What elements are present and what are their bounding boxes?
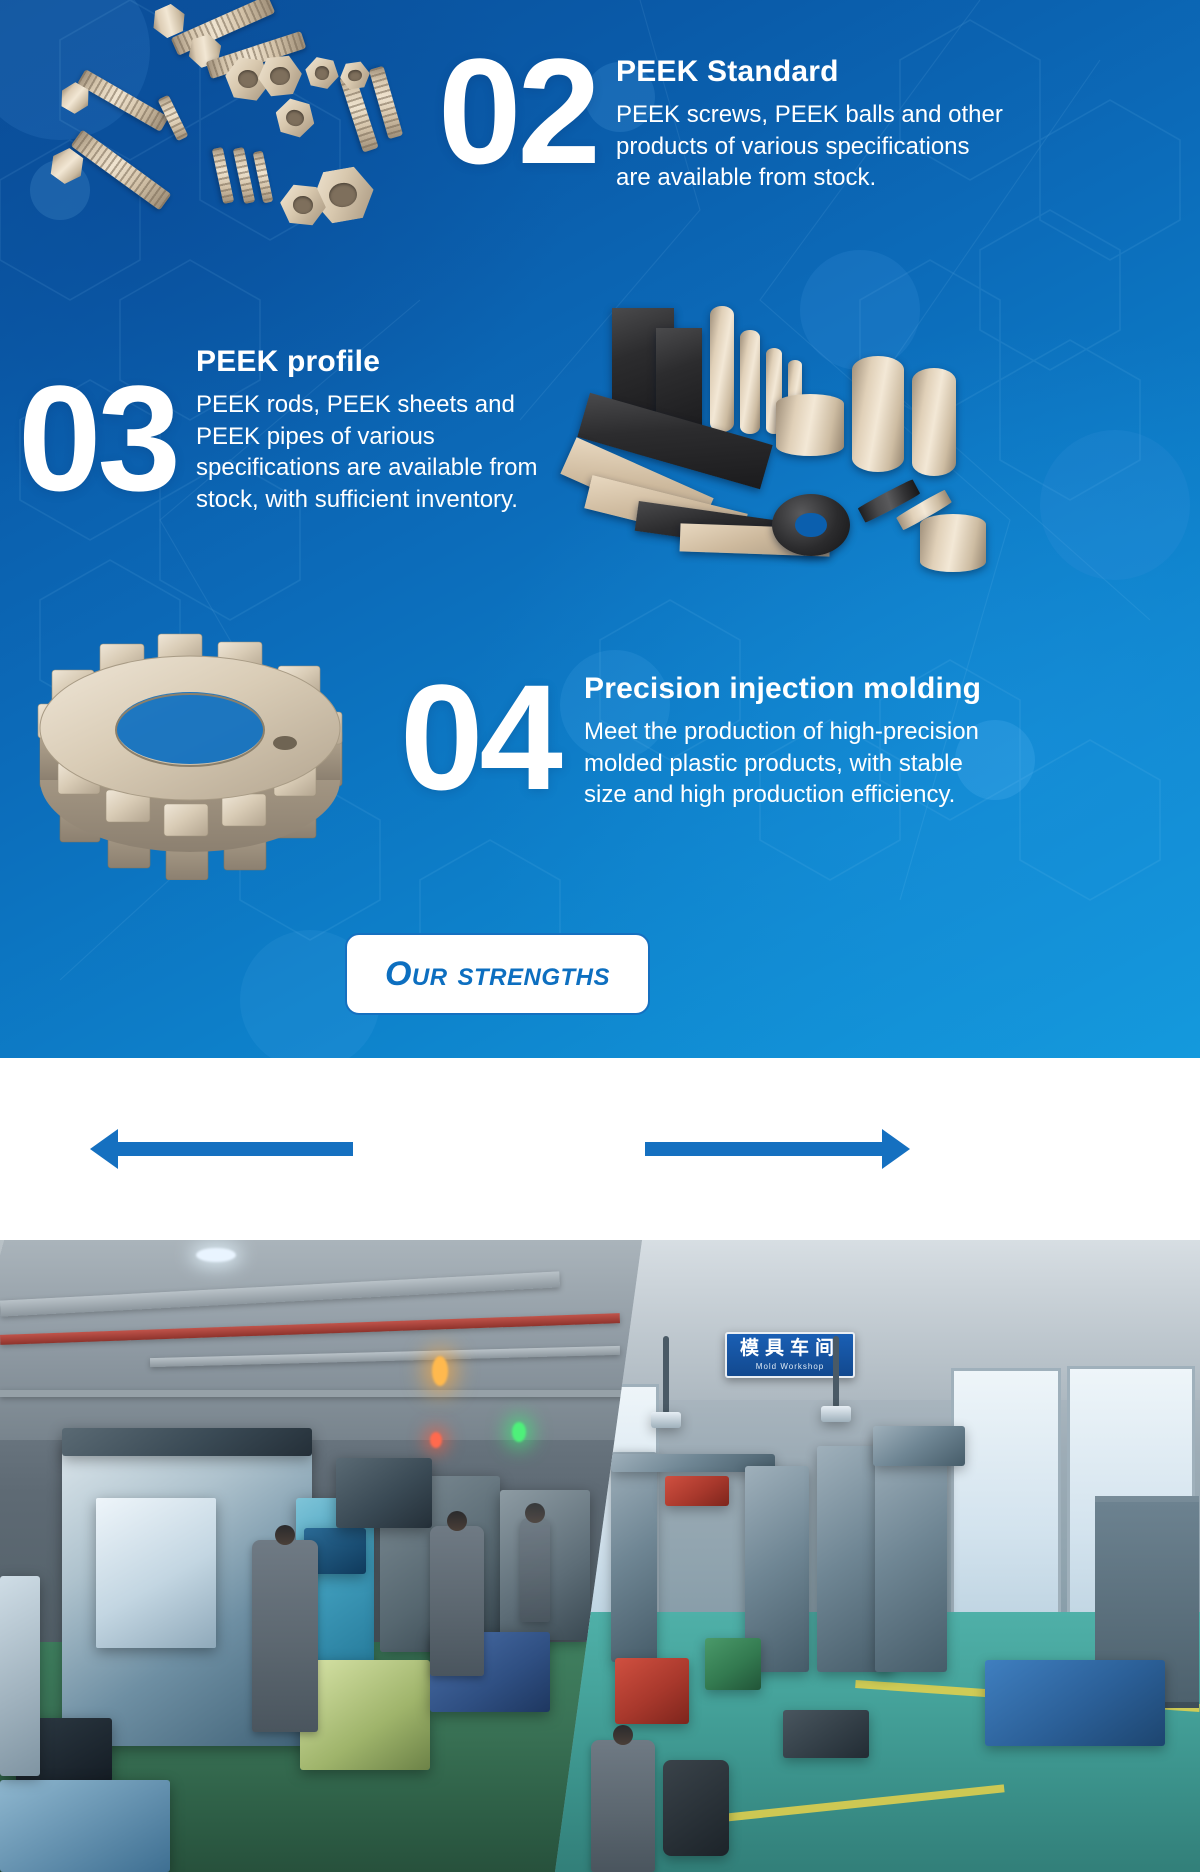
milling-machine-head	[873, 1426, 965, 1466]
worker-person	[252, 1540, 318, 1732]
feature-block-02: 02 PEEK Standard PEEK screws, PEEK balls…	[0, 0, 1200, 290]
tan-rod	[912, 368, 956, 476]
our-strengths-label: Our strengths	[385, 955, 610, 994]
black-ring	[772, 494, 850, 556]
arrow-right-icon	[882, 1129, 910, 1169]
work-bench	[985, 1660, 1165, 1746]
peek-screws-and-nuts-photo	[20, 0, 440, 270]
worker-person	[591, 1740, 655, 1872]
status-light-green	[512, 1422, 526, 1442]
tan-rod	[852, 356, 904, 472]
our-strengths-label-box: Our strengths	[345, 933, 650, 1015]
tan-rod	[776, 394, 844, 456]
our-strengths-banner	[0, 1058, 1200, 1240]
arrow-line-right	[645, 1142, 882, 1156]
feature-body: PEEK screws, PEEK balls and other produc…	[616, 99, 1006, 194]
pendant-lamp	[663, 1336, 669, 1414]
bolt-shaft	[77, 69, 169, 132]
hex-nut	[302, 55, 341, 91]
peek-molded-gear-ring-photo	[30, 630, 350, 880]
peek-rods-sheets-pipes-photo	[540, 298, 1000, 598]
radial-drill	[611, 1452, 657, 1662]
machine-unit	[705, 1638, 761, 1690]
arrow-line-left	[118, 1142, 353, 1156]
arrow-left-icon	[90, 1129, 118, 1169]
cabinet	[0, 1576, 40, 1776]
bolt-shaft	[212, 147, 234, 204]
hex-nut	[271, 95, 319, 141]
mold-block	[783, 1710, 869, 1758]
tool-cart	[615, 1658, 689, 1724]
machine-unit	[665, 1476, 729, 1506]
cnc-machining-workshop-photo	[0, 1240, 660, 1872]
tan-tube	[920, 514, 986, 572]
bolt-shaft	[369, 66, 403, 139]
ceiling-light	[432, 1356, 448, 1386]
cnc-machine-door	[96, 1498, 216, 1648]
ceiling-light	[196, 1248, 236, 1262]
ceiling-beam	[0, 1390, 660, 1397]
feature-number: 04	[400, 662, 559, 812]
milling-machine	[875, 1436, 947, 1672]
pendant-lamp	[821, 1406, 851, 1422]
sign-english-text: Mold Workshop	[756, 1362, 824, 1371]
worker-person	[430, 1526, 484, 1676]
feature-title: PEEK Standard	[616, 55, 1006, 89]
bolt-shaft	[71, 130, 172, 211]
desk	[0, 1780, 170, 1872]
feature-block-03: 03 PEEK profile PEEK rods, PEEK sheets a…	[0, 290, 1200, 620]
tool-cart	[300, 1660, 430, 1770]
bolt-shaft	[233, 147, 255, 204]
factory-photo-strip: 模具车间 Mold Workshop	[0, 1240, 1200, 1872]
feature-body: PEEK rods, PEEK sheets and PEEK pipes of…	[196, 389, 576, 516]
worker-person	[520, 1518, 550, 1622]
machine-unit	[336, 1458, 432, 1528]
sign-chinese-text: 模具车间	[740, 1339, 840, 1360]
tan-rod	[710, 306, 734, 432]
peek-features-section: 02 PEEK Standard PEEK screws, PEEK balls…	[0, 0, 1200, 1058]
feature-number: 02	[438, 36, 597, 186]
bolt-shaft	[253, 151, 274, 204]
pendant-lamp	[833, 1336, 839, 1408]
mold-workshop-photo: 模具车间 Mold Workshop	[555, 1240, 1200, 1872]
office-chair	[663, 1760, 729, 1856]
tan-rod	[740, 330, 760, 434]
status-light-red	[430, 1432, 442, 1448]
window	[951, 1368, 1061, 1638]
cnc-machine-top	[62, 1428, 312, 1456]
pendant-lamp	[651, 1412, 681, 1428]
feature-title: PEEK profile	[196, 345, 576, 379]
feature-body: Meet the production of high-precision mo…	[584, 716, 984, 811]
feature-title: Precision injection molding	[584, 672, 1004, 706]
feature-number: 03	[18, 363, 177, 513]
